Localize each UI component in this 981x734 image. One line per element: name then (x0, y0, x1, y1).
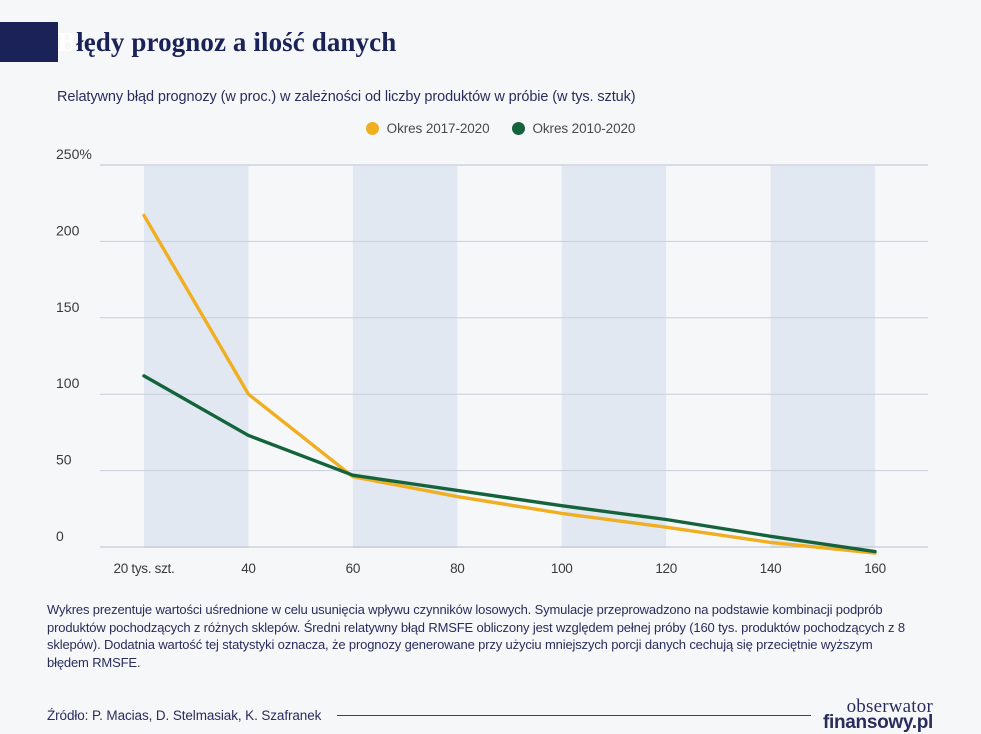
series-line-green (144, 376, 875, 552)
observator-finansowy-logo[interactable]: obserwator finansowy.pl (823, 697, 933, 734)
xtick-label: 160 (864, 561, 886, 576)
xtick-label: 80 (450, 561, 464, 576)
logo-line-bottom: finansowy.pl (823, 713, 933, 732)
xtick-label: 100 (551, 561, 573, 576)
chart-band (771, 166, 875, 548)
xtick-label: 40 (241, 561, 255, 576)
line-chart: 050100150200250% 20 tys. szt.40608010012… (0, 0, 981, 600)
chart-band (144, 166, 248, 548)
ytick-label: 250% (56, 146, 92, 162)
chart-band (562, 166, 666, 548)
xtick-label: 60 (346, 561, 360, 576)
ytick-label: 200 (56, 222, 80, 238)
chart-band (353, 166, 457, 548)
ytick-label: 150 (56, 299, 80, 315)
source-divider (337, 715, 811, 716)
chart-ytick-labels: 050100150200250% (56, 146, 92, 544)
source-row: Źródło: P. Macias, D. Stelmasiak, K. Sza… (47, 697, 933, 733)
source-text: Źródło: P. Macias, D. Stelmasiak, K. Sza… (47, 708, 321, 723)
ytick-label: 100 (56, 375, 80, 391)
ytick-label: 0 (56, 528, 64, 544)
chart-xtick-labels: 20 tys. szt.406080100120140160 (114, 561, 886, 576)
xtick-label: 20 tys. szt. (114, 561, 175, 576)
xtick-label: 120 (655, 561, 677, 576)
ytick-label: 50 (56, 452, 72, 468)
series-line-orange (144, 215, 875, 553)
xtick-label: 140 (760, 561, 782, 576)
chart-container: 050100150200250% 20 tys. szt.40608010012… (0, 0, 981, 600)
chart-footnote: Wykres prezentuje wartości uśrednione w … (47, 601, 913, 671)
chart-bands (144, 166, 875, 548)
chart-series-lines (144, 215, 875, 553)
